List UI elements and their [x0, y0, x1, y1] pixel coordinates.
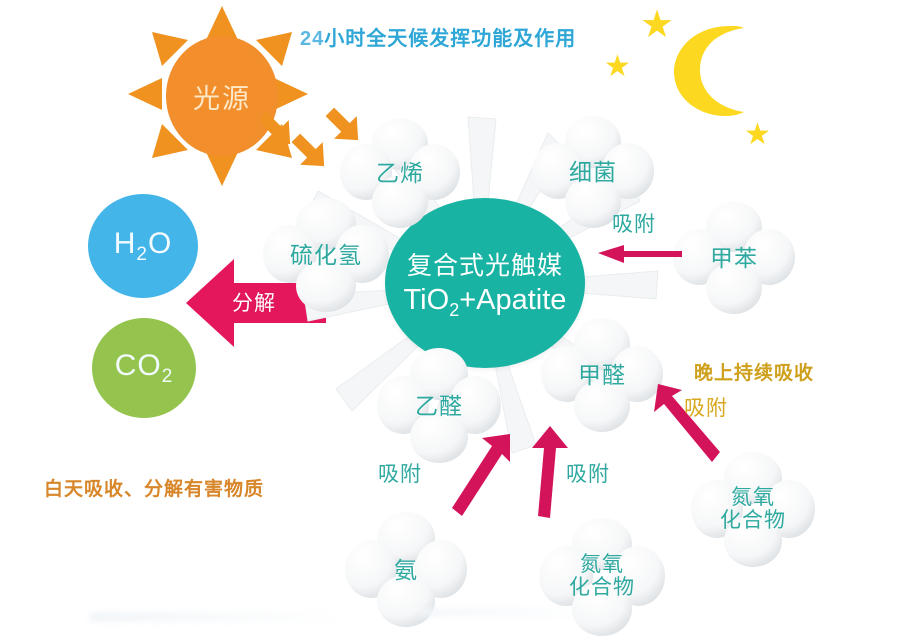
center-line-2: TiO2+Apatite [404, 284, 567, 321]
adsorb-arrow-ammonia [452, 432, 518, 518]
night-caption: 晚上持续吸收 [694, 358, 814, 385]
center-line-1: 复合式光触媒 [407, 246, 563, 282]
product-circle-co2: CO2 [92, 318, 196, 418]
product-circle-h2o: H2O [88, 194, 198, 298]
molecule-nox-bottom: 氮氧 化合物 [538, 518, 666, 636]
daytime-caption: 白天吸收、分解有害物质 [44, 474, 264, 501]
star-icon: ★ [640, 6, 674, 44]
molecule-nox-right: 氮氧 化合物 [690, 452, 816, 568]
adsorb-arrow-toluene [598, 240, 682, 266]
h2o-label: H2O [114, 227, 173, 266]
page-title: 24小时全天候发挥功能及作用 [300, 22, 576, 51]
title-text: 小时全天候发挥功能及作用 [324, 28, 576, 50]
molecule-toluene: 甲苯 [672, 202, 796, 314]
adsorb-label-toluene: 吸附 [612, 208, 656, 238]
sun-label: 光源 [193, 77, 251, 116]
co2-label: CO2 [115, 349, 174, 388]
star-icon: ★ [744, 120, 771, 150]
bottom-artifact [90, 612, 350, 622]
photocatalyst-infographic: 光源 24小时全天候发挥功能及作用 ★ ★ ★ H2O CO2 分解 [0, 0, 900, 640]
bottom-artifact [420, 608, 600, 617]
adsorb-label-nox-bottom: 吸附 [566, 458, 610, 488]
title-number: 24 [300, 28, 324, 50]
adsorb-label-nox-right: 吸附 [684, 392, 728, 422]
star-icon: ★ [604, 52, 631, 82]
adsorb-label-ammonia: 吸附 [378, 458, 422, 488]
molecule-hydrogen-sulfide: 硫化氢 [262, 198, 390, 312]
molecule-formaldehyde: 甲醛 [540, 318, 664, 432]
